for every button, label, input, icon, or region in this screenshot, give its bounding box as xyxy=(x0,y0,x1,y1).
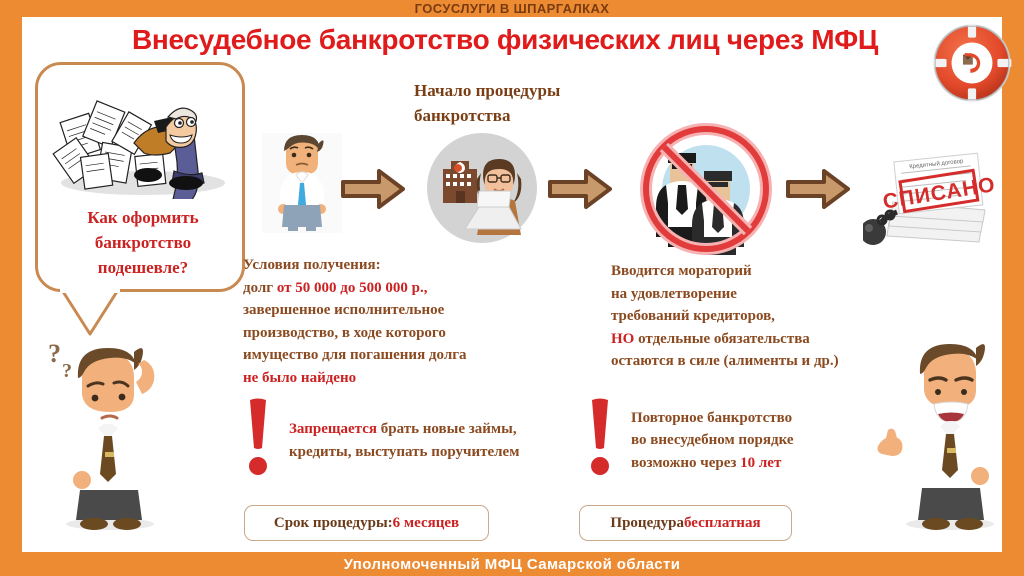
warning-repeat-line-2: во внесудебном порядке xyxy=(631,429,794,452)
arrow-right-icon xyxy=(548,168,612,210)
moratorium-line-1: Вводится мораторий xyxy=(611,260,941,283)
bubble-line-3: подешевле? xyxy=(48,255,238,280)
banner-bottom: Уполномоченный МФЦ Самарской области xyxy=(0,552,1024,576)
arrow-right-icon xyxy=(341,168,405,210)
warning-block-loans: Запрещается брать новые займы, кредиты, … xyxy=(243,398,573,483)
warning-block-repeat: Повторное банкротство во внесудебном пор… xyxy=(585,398,915,483)
svg-text:?: ? xyxy=(48,339,61,368)
conditions-heading: Условия получения: xyxy=(243,254,563,277)
procedure-free-value: бесплатная xyxy=(684,515,761,532)
procedure-free-badge: Процедура бесплатная xyxy=(579,505,792,541)
conditions-line-6: не было найдено xyxy=(243,367,563,390)
warning-loans-line-1: Запрещается брать новые займы, xyxy=(289,418,519,441)
banner-top: ГОСУСЛУГИ В ШПАРГАЛКАХ xyxy=(0,0,1024,17)
flow-caption-line-1: Начало процедуры xyxy=(414,78,654,103)
bubble-text: Как оформить банкротство подешевле? xyxy=(48,205,238,280)
bubble-line-1: Как оформить xyxy=(48,205,238,230)
debt-papers-written-off-illustration: Кредитный договор СПИСАНО xyxy=(863,150,995,250)
man-with-pile-of-debt-papers-illustration xyxy=(46,71,240,199)
speech-bubble: Как оформить банкротство подешевле? xyxy=(35,62,245,292)
conditions-line-3: завершенное исполнительное xyxy=(243,299,563,322)
warning-loans-text: Запрещается брать новые займы, кредиты, … xyxy=(289,418,519,463)
moratorium-line-2: на удовлетворение xyxy=(611,283,941,306)
arrow-right-icon xyxy=(786,168,850,210)
flow-caption: Начало процедуры банкротства xyxy=(414,78,654,128)
speech-bubble-tail xyxy=(60,288,120,336)
flow-caption-line-2: банкротства xyxy=(414,103,654,128)
sad-debtor-illustration xyxy=(262,133,342,233)
but-highlight: НО xyxy=(611,331,634,347)
procedure-free-label: Процедура xyxy=(610,515,684,532)
procedure-term-badge: Срок процедуры: 6 месяцев xyxy=(244,505,489,541)
forbidden-highlight: Запрещается xyxy=(289,421,377,437)
moratorium-line-3: требований кредиторов, xyxy=(611,305,941,328)
warning-loans-line-2: кредиты, выступать поручителем xyxy=(289,441,519,464)
exclamation-mark-icon xyxy=(585,398,615,483)
procedure-term-value: 6 месяцев xyxy=(393,515,459,532)
warning-repeat-text: Повторное банкротство во внесудебном пор… xyxy=(631,407,794,475)
banner-top-text: ГОСУСЛУГИ В ШПАРГАЛКАХ xyxy=(415,1,610,16)
conditions-line-2: долг от 50 000 до 500 000 р., xyxy=(243,277,563,300)
ten-years-highlight: 10 лет xyxy=(740,455,781,471)
page-title: Внесудебное банкротство физических лиц ч… xyxy=(110,22,900,58)
conditions-text-block: Условия получения: долг от 50 000 до 500… xyxy=(243,254,563,389)
infographic-poster: ГОСУСЛУГИ В ШПАРГАЛКАХ Внесудебное банкр… xyxy=(0,0,1024,576)
happy-man-thumbs-up-illustration xyxy=(872,330,1022,532)
warning-repeat-line-1: Повторное банкротство xyxy=(631,407,794,430)
warning-repeat-line-3: возможно через 10 лет xyxy=(631,452,794,475)
mfc-lifebuoy-logo xyxy=(931,22,1013,104)
bubble-line-2: банкротство xyxy=(48,230,238,255)
no-debt-collectors-prohibition-illustration xyxy=(640,123,772,255)
conditions-line-4: производство, в ходе которого xyxy=(243,322,563,345)
mfc-office-clerk-illustration xyxy=(427,133,537,243)
confused-man-with-question-marks-illustration: ? ? xyxy=(30,332,185,532)
svg-text:?: ? xyxy=(62,360,72,382)
exclamation-mark-icon xyxy=(243,398,273,483)
debt-range-highlight: от 50 000 до 500 000 р., xyxy=(277,280,428,296)
procedure-term-label: Срок процедуры: xyxy=(274,515,393,532)
conditions-line-5: имущество для погашения долга xyxy=(243,344,563,367)
banner-bottom-text: Уполномоченный МФЦ Самарской области xyxy=(344,556,681,573)
